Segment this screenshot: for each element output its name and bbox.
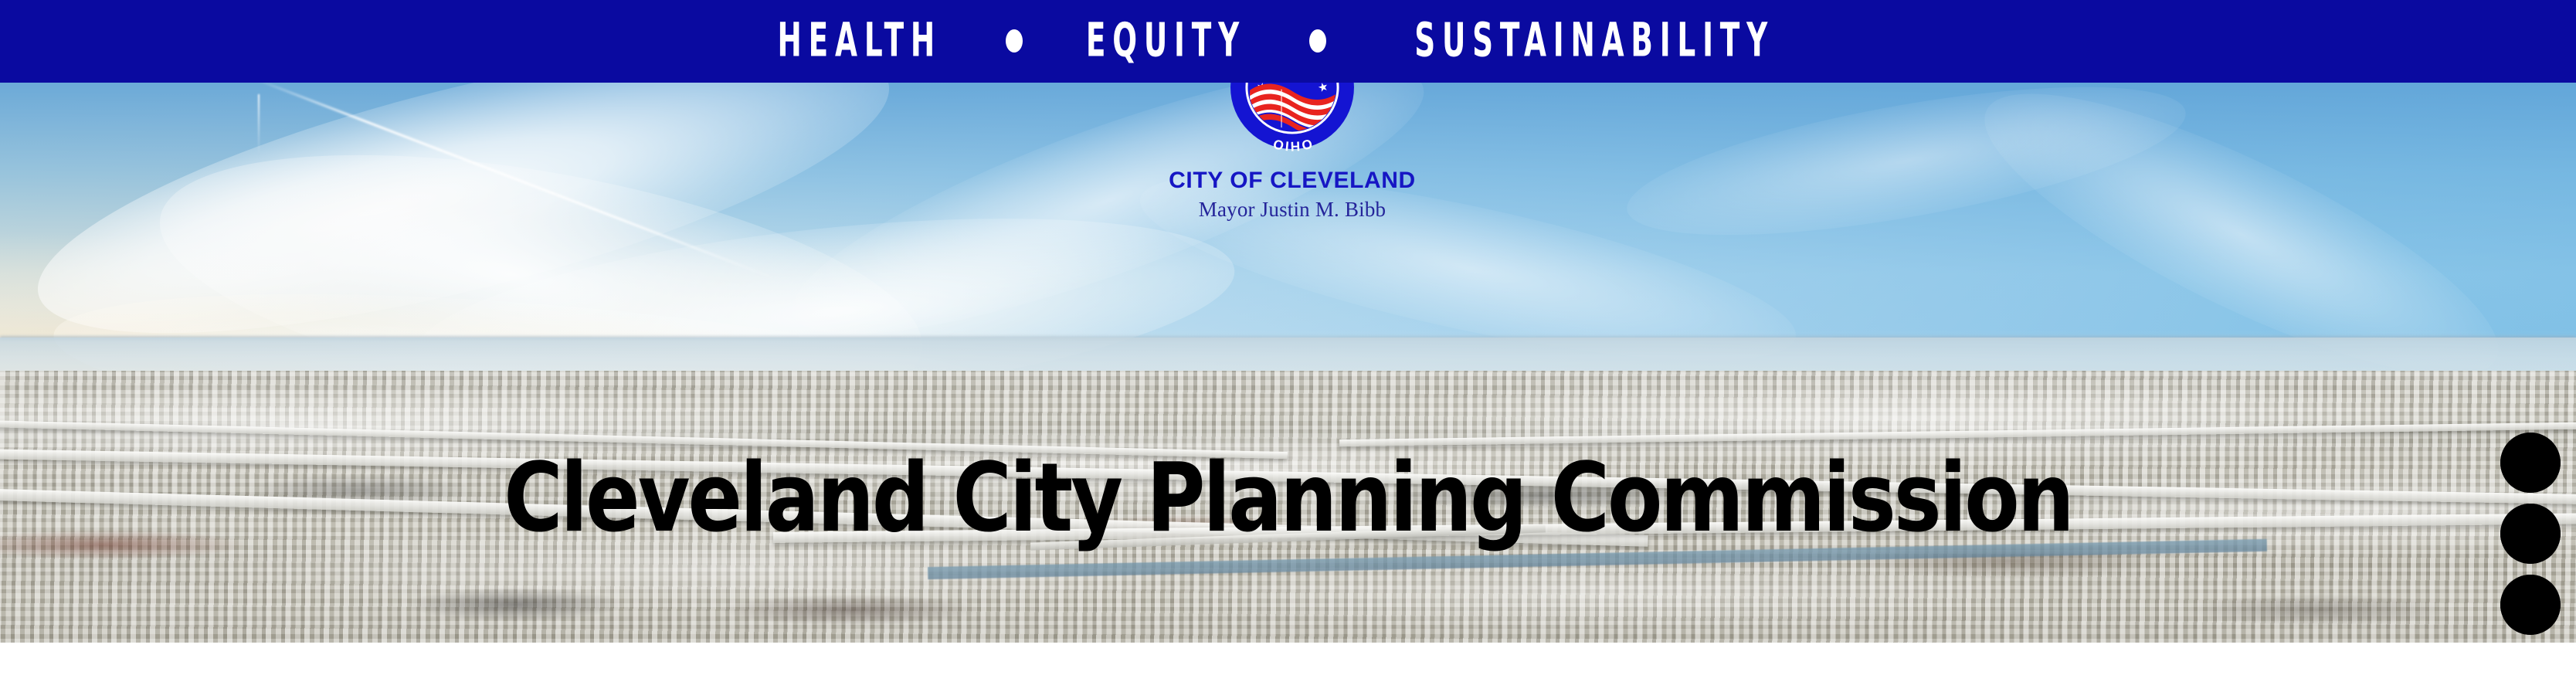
tagline-word-equity: EQUITY	[1086, 17, 1246, 63]
facebook-icon	[2500, 575, 2561, 635]
tagline-word-sustainability: SUSTAINABILITY	[1414, 17, 1774, 63]
facebook-link[interactable]	[2500, 575, 2561, 635]
bottom-white-strip	[0, 643, 2576, 682]
instagram-icon	[2500, 504, 2561, 564]
tagline-banner: HEALTH EQUITY SUSTAINABILITY	[0, 0, 2576, 83]
tagline-bullet-icon-2	[1309, 29, 1326, 53]
social-links	[2500, 433, 2561, 635]
youtube-icon	[2500, 433, 2561, 493]
instagram-link[interactable]	[2500, 504, 2561, 564]
tagline-word-health: HEALTH	[778, 17, 942, 63]
brand-subtitle: Mayor Justin M. Bibb	[1099, 199, 1485, 220]
page-title: Cleveland City Planning Commission	[0, 450, 2576, 545]
youtube-link[interactable]	[2500, 433, 2561, 493]
brand-title: CITY OF CLEVELAND	[1099, 169, 1485, 192]
tagline-banner-inner: HEALTH EQUITY SUSTAINABILITY	[757, 21, 1819, 61]
page-root: HEALTH EQUITY SUSTAINABILITY	[0, 0, 2576, 682]
tagline-bullet-icon-1	[1006, 29, 1023, 53]
